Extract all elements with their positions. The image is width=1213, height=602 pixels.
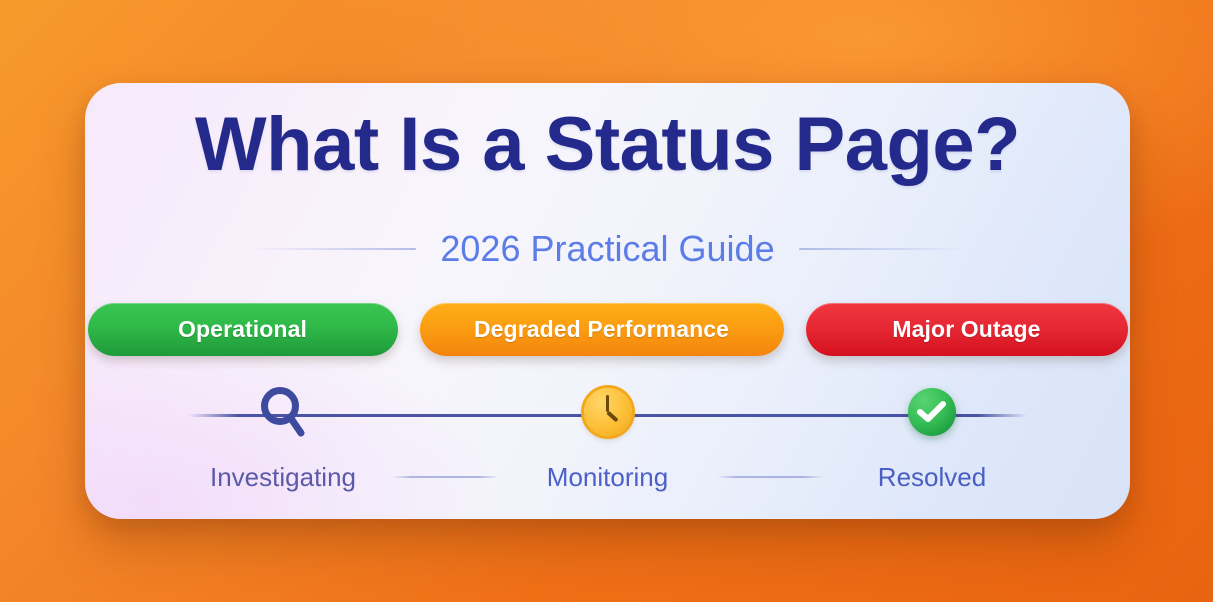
- timeline-label-rule-2: [717, 476, 824, 478]
- incident-timeline: Investigating Monitoring Resolved: [85, 383, 1130, 503]
- poster-background: What Is a Status Page? 2026 Practical Gu…: [0, 0, 1213, 602]
- content-card: What Is a Status Page? 2026 Practical Gu…: [85, 83, 1130, 519]
- subtitle-rule-right: [799, 248, 965, 250]
- timeline-nodes: [188, 383, 1027, 453]
- clock-icon: [579, 383, 637, 441]
- status-pill-major-outage[interactable]: Major Outage: [806, 303, 1128, 356]
- page-title: What Is a Status Page?: [85, 105, 1130, 185]
- status-pill-degraded-performance-label: Degraded Performance: [474, 316, 729, 343]
- status-pill-operational[interactable]: Operational: [88, 303, 398, 356]
- timeline-label-investigating: Investigating: [210, 462, 356, 493]
- timeline-label-cell-resolved: Resolved: [837, 462, 1027, 493]
- timeline-step-monitoring[interactable]: [513, 383, 703, 441]
- page-subtitle: 2026 Practical Guide: [440, 228, 774, 270]
- timeline-label-cell-investigating: Investigating: [188, 462, 378, 493]
- check-circle-icon: [903, 383, 961, 441]
- subtitle-rule-left: [250, 248, 416, 250]
- clock-hour-hand: [606, 411, 618, 422]
- status-pill-operational-label: Operational: [178, 316, 307, 343]
- status-pill-group: Operational Degraded Performance Major O…: [85, 303, 1130, 356]
- timeline-label-monitoring: Monitoring: [547, 462, 668, 493]
- status-pill-major-outage-label: Major Outage: [892, 316, 1040, 343]
- clock-minute-hand: [606, 395, 610, 412]
- timeline-label-rule-1: [392, 476, 499, 478]
- subtitle-row: 2026 Practical Guide: [85, 225, 1130, 273]
- timeline-labels: Investigating Monitoring Resolved: [188, 457, 1027, 497]
- timeline-step-investigating[interactable]: [188, 383, 378, 441]
- timeline-label-cell-monitoring: Monitoring: [513, 462, 703, 493]
- timeline-step-resolved[interactable]: [837, 383, 1027, 441]
- timeline-label-resolved: Resolved: [878, 462, 986, 493]
- status-pill-degraded-performance[interactable]: Degraded Performance: [420, 303, 784, 356]
- magnifier-icon: [254, 383, 312, 441]
